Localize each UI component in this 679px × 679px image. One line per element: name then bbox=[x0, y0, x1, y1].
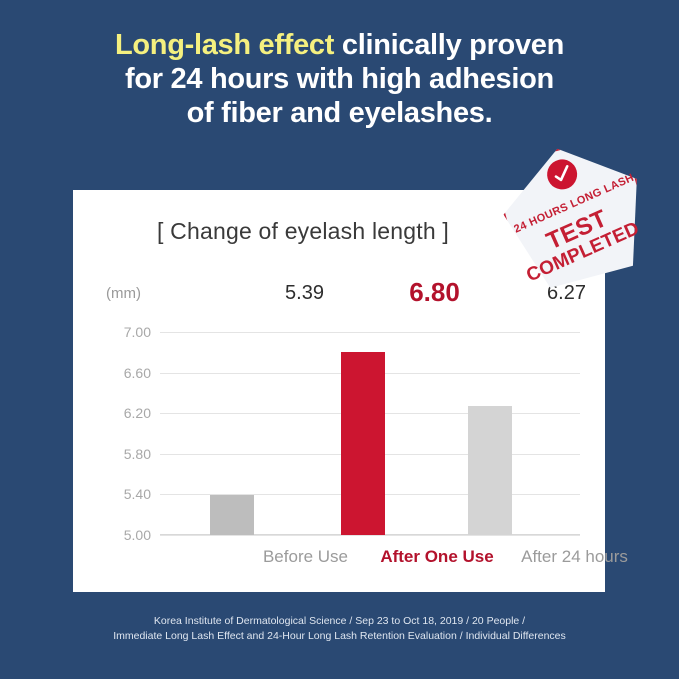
promo-poster: Long-lash effect clinically proven for 2… bbox=[0, 0, 679, 679]
y-axis-tick-label: 7.00 bbox=[124, 324, 151, 340]
bar-before-use bbox=[210, 495, 254, 535]
headline-accent-text: Long-lash effect bbox=[115, 29, 334, 61]
headline-line-1-rest: clinically proven bbox=[334, 29, 564, 61]
gridline bbox=[160, 332, 580, 333]
y-axis-tick-label: 6.60 bbox=[124, 365, 151, 381]
chart-title: [ Change of eyelash length ] bbox=[73, 218, 533, 245]
chart-plot-area: 7.006.606.205.805.405.00 bbox=[160, 332, 580, 535]
y-axis-tick-label: 5.40 bbox=[124, 486, 151, 502]
headline-line-2: for 24 hours with high adhesion bbox=[0, 62, 679, 96]
category-label-row: Before Use After One Use After 24 hours bbox=[73, 547, 605, 577]
test-completed-stamp: 24 HOURS LONG LASH TEST COMPLETED bbox=[498, 141, 648, 289]
bar-after-24-hours bbox=[468, 406, 512, 535]
data-label-after-one-use: 6.80 bbox=[362, 277, 507, 308]
stamp-inner: 24 HOURS LONG LASH TEST COMPLETED bbox=[481, 124, 664, 306]
y-axis-tick-label: 5.80 bbox=[124, 446, 151, 462]
category-label-after-24-hours: After 24 hours bbox=[492, 547, 657, 567]
y-axis-tick-label: 6.20 bbox=[124, 405, 151, 421]
category-label-before-use: Before Use bbox=[228, 547, 383, 567]
footnote: Korea Institute of Dermatological Scienc… bbox=[0, 614, 679, 644]
headline-line-1: Long-lash effect clinically proven bbox=[0, 28, 679, 62]
category-label-after-one-use: After One Use bbox=[361, 547, 513, 567]
footnote-line-1: Korea Institute of Dermatological Scienc… bbox=[0, 614, 679, 629]
gridline bbox=[160, 535, 580, 536]
headline-line-3: of fiber and eyelashes. bbox=[0, 96, 679, 130]
data-label-before-use: 5.39 bbox=[232, 282, 377, 305]
y-axis-unit-label: (mm) bbox=[106, 285, 141, 302]
bar-after-one-use bbox=[341, 352, 385, 535]
headline: Long-lash effect clinically proven for 2… bbox=[0, 28, 679, 130]
y-axis-tick-label: 5.00 bbox=[124, 527, 151, 543]
footnote-line-2: Immediate Long Lash Effect and 24-Hour L… bbox=[0, 629, 679, 644]
